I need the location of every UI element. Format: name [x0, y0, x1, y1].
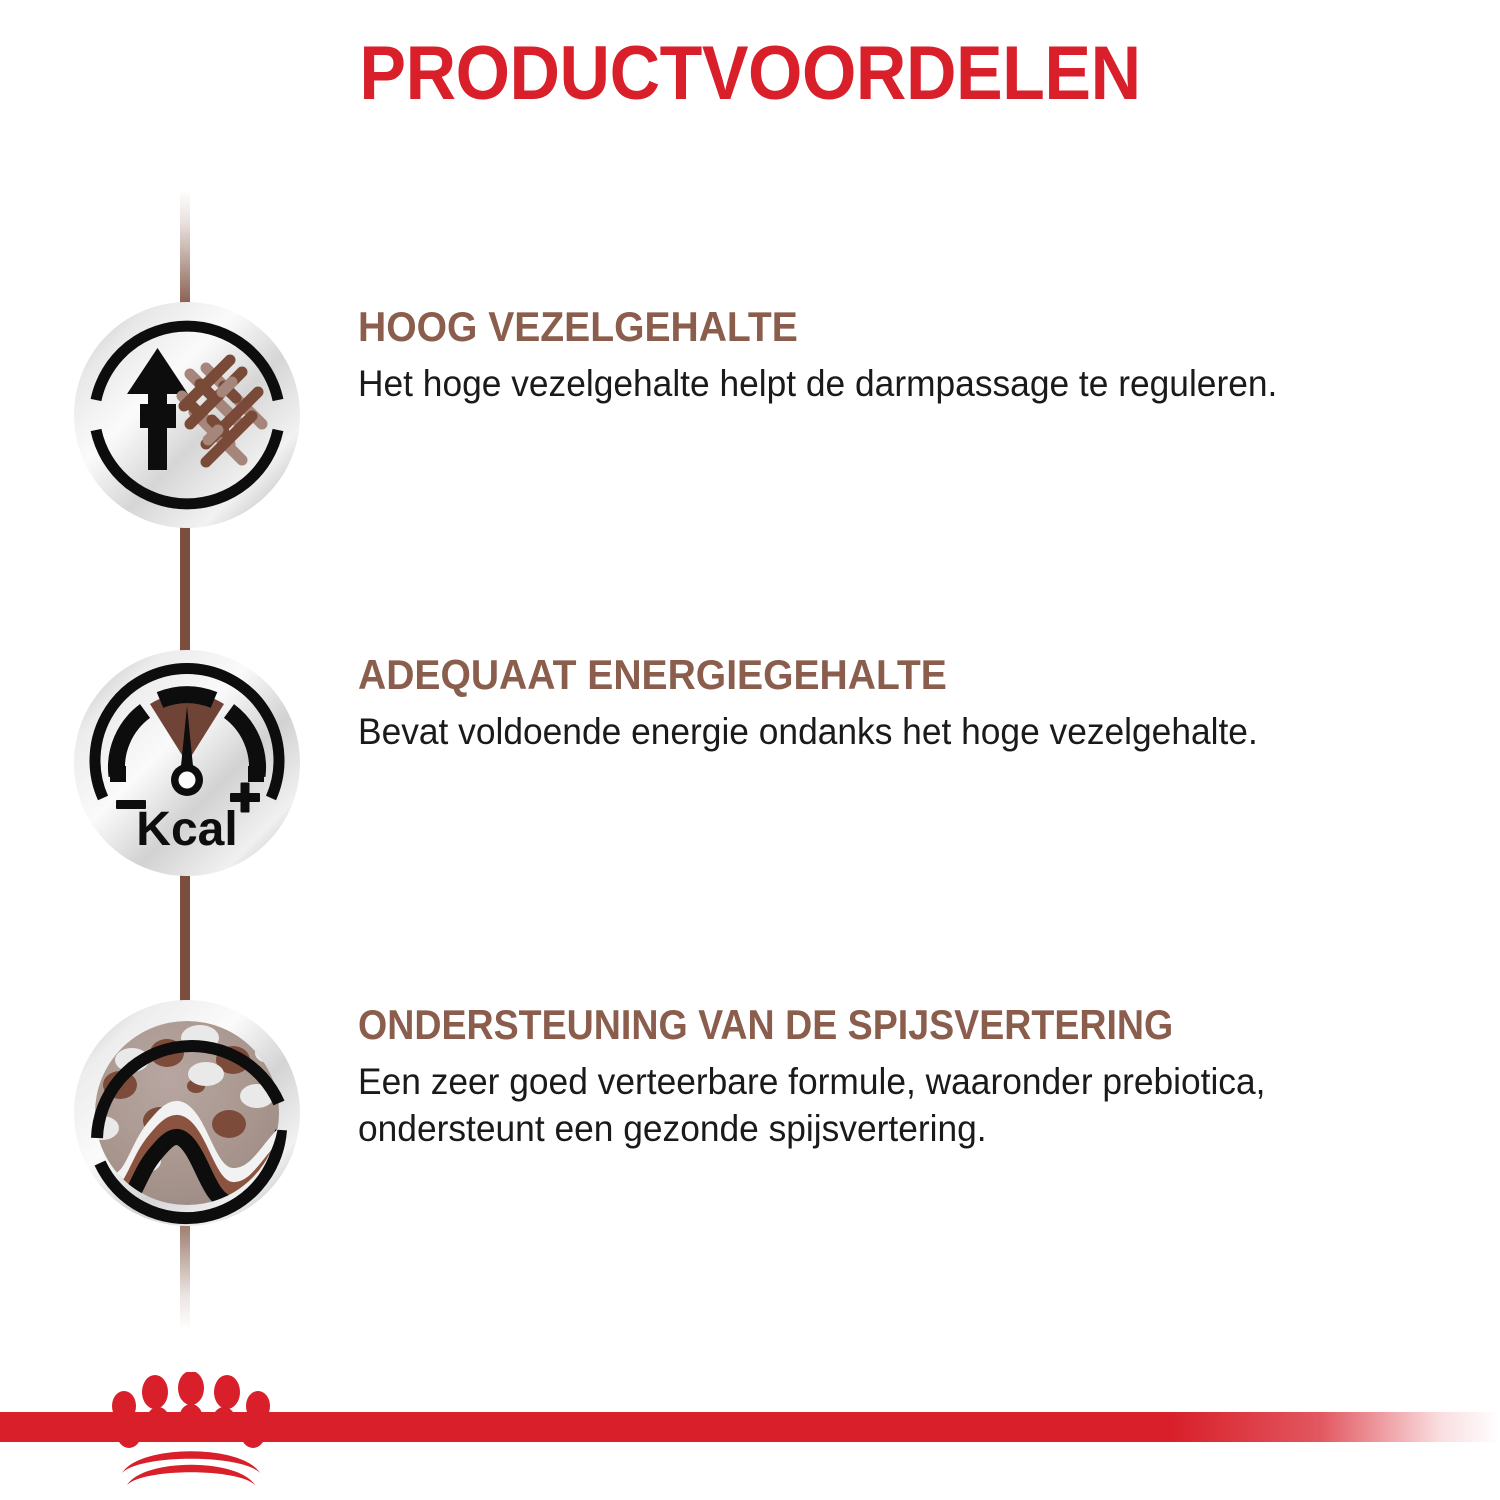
product-benefits-page: PRODUCTVOORDELEN: [0, 0, 1500, 1500]
digestive-support-icon: [72, 998, 302, 1228]
footer: [0, 1360, 1500, 1500]
kcal-label: Kcal: [136, 803, 237, 856]
benefit-item: HOOG VEZELGEHALTE Het hoge vezelgehalte …: [0, 300, 1500, 540]
royal-canin-crown-logo: [96, 1372, 286, 1488]
benefit-text-block: ADEQUAAT ENERGIEGEHALTE Bevat voldoende …: [358, 654, 1448, 755]
benefit-body: Bevat voldoende energie ondanks het hoge…: [358, 708, 1399, 755]
benefit-body: Het hoge vezelgehalte helpt de darmpassa…: [358, 360, 1399, 407]
fiber-arrow-mesh-icon: [72, 300, 302, 530]
benefit-text-block: ONDERSTEUNING VAN DE SPIJSVERTERING Een …: [358, 1004, 1448, 1152]
benefit-text-block: HOOG VEZELGEHALTE Het hoge vezelgehalte …: [358, 306, 1448, 407]
benefit-heading: HOOG VEZELGEHALTE: [358, 306, 1372, 348]
benefit-item: Kcal ADEQUAAT ENERGIEGEHALTE Bevat voldo…: [0, 648, 1500, 888]
benefits-list: HOOG VEZELGEHALTE Het hoge vezelgehalte …: [0, 0, 1500, 1360]
benefit-body: Een zeer goed verteerbare formule, waaro…: [358, 1058, 1399, 1153]
benefit-item: ONDERSTEUNING VAN DE SPIJSVERTERING Een …: [0, 998, 1500, 1238]
benefit-heading: ONDERSTEUNING VAN DE SPIJSVERTERING: [358, 1004, 1344, 1046]
kcal-gauge-icon: Kcal: [72, 648, 302, 878]
benefit-heading: ADEQUAAT ENERGIEGEHALTE: [358, 654, 1372, 696]
